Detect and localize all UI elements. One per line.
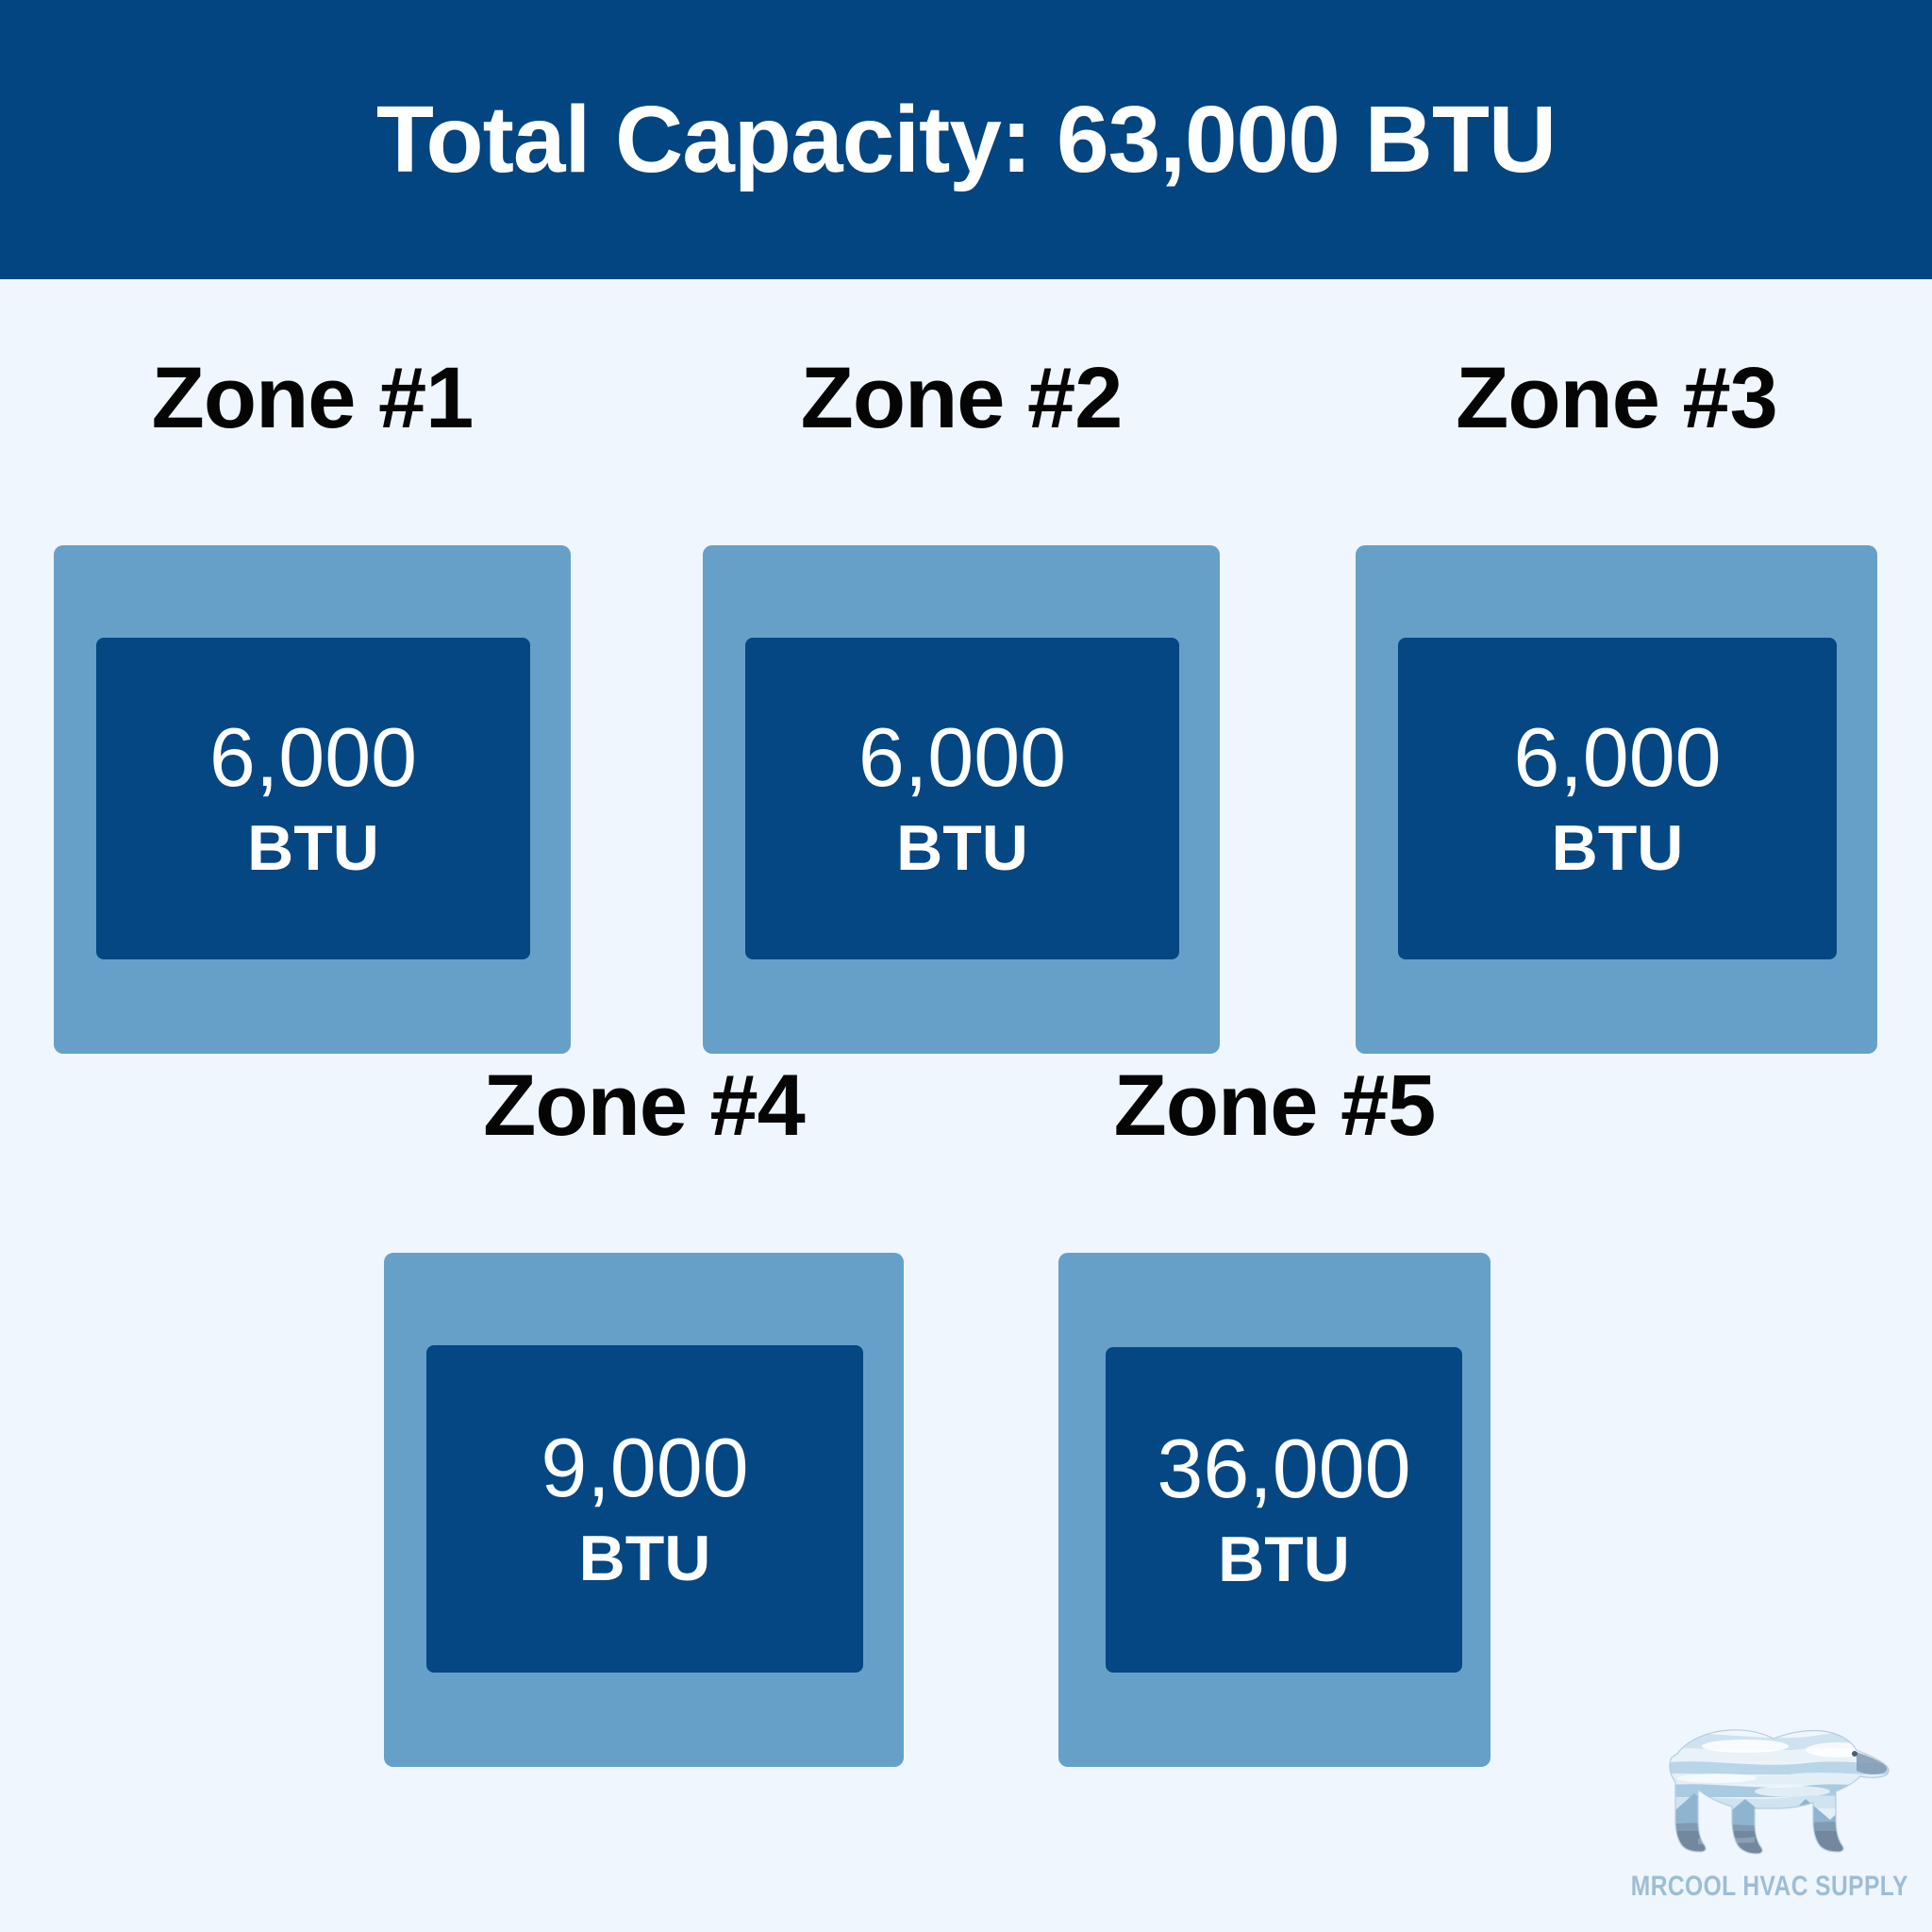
zone-2-label: Zone #2 [703, 355, 1220, 441]
zone-5-unit: BTU [1218, 1526, 1350, 1593]
zone-4-capacity-box: 9,000 BTU [426, 1345, 863, 1673]
zone-1-outer-panel: 6,000 BTU [54, 545, 571, 1054]
zone-3-outer-panel: 6,000 BTU [1356, 545, 1877, 1054]
zone-4-unit: BTU [579, 1525, 711, 1592]
page-title: Total Capacity: 63,000 BTU [376, 92, 1556, 187]
zone-3-label: Zone #3 [1356, 355, 1877, 441]
zone-2-value: 6,000 [858, 715, 1066, 800]
zone-2-unit: BTU [896, 815, 1028, 882]
zone-2-outer-panel: 6,000 BTU [703, 545, 1220, 1054]
zone-2-capacity-box: 6,000 BTU [745, 638, 1179, 959]
zone-3-unit: BTU [1552, 815, 1684, 882]
polar-bear-icon [1604, 1712, 1906, 1868]
zone-3-capacity-box: 6,000 BTU [1398, 638, 1837, 959]
zone-1-label: Zone #1 [54, 355, 571, 441]
zone-5-label: Zone #5 [1058, 1062, 1491, 1149]
zone-4-outer-panel: 9,000 BTU [384, 1253, 904, 1767]
header-banner: Total Capacity: 63,000 BTU [0, 0, 1932, 279]
zone-1-value: 6,000 [209, 715, 417, 800]
zone-3-value: 6,000 [1513, 715, 1721, 800]
zone-4-value: 9,000 [541, 1425, 748, 1510]
zone-5-outer-panel: 36,000 BTU [1058, 1253, 1491, 1767]
zone-1-capacity-box: 6,000 BTU [96, 638, 530, 959]
zone-5-capacity-box: 36,000 BTU [1106, 1347, 1462, 1673]
zone-1-unit: BTU [247, 815, 379, 882]
brand-name: MRCOOL HVAC SUPPLY [1631, 1871, 1878, 1903]
brand-logo: MRCOOL HVAC SUPPLY [1604, 1712, 1906, 1915]
zone-4-label: Zone #4 [384, 1062, 904, 1149]
zone-5-value: 36,000 [1157, 1426, 1410, 1511]
zones-area: Zone #1 6,000 BTU Zone #2 6,000 BTU Zone… [0, 279, 1932, 1932]
